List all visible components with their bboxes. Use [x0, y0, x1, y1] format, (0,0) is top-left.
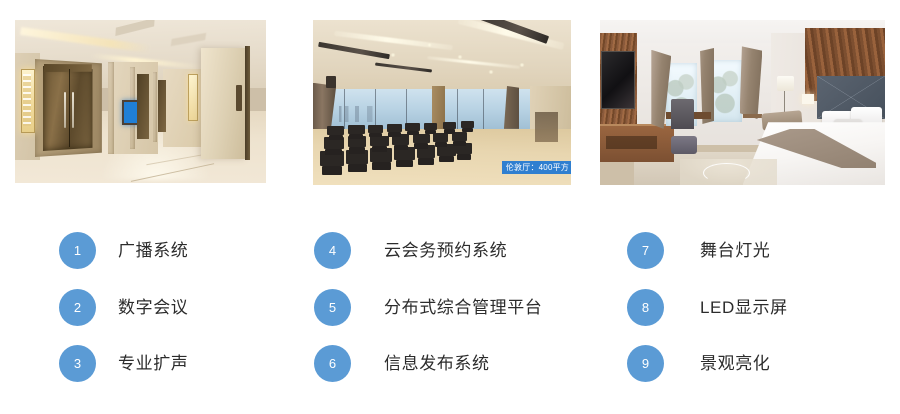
- room-ottoman: [671, 136, 697, 154]
- lobby-column-fixture: [236, 85, 242, 111]
- guest-room-scene: [600, 20, 885, 185]
- chair: [433, 133, 448, 142]
- feature-label-3: 专业扩声: [118, 355, 188, 372]
- feature-item-8[interactable]: 8 LED显示屏: [627, 289, 788, 326]
- photo-elevator-lobby: [15, 20, 266, 183]
- lobby-pilaster-3: [153, 72, 157, 142]
- hall-downlight-3: [457, 55, 463, 59]
- feature-label-5: 分布式综合管理平台: [384, 299, 542, 316]
- photo-conference-hall: 伦敦厅：400平方: [313, 20, 571, 185]
- photo-strip: 伦敦厅：400平方: [0, 0, 900, 200]
- feature-item-1[interactable]: 1 广播系统: [59, 232, 188, 269]
- feature-badge-1: 1: [59, 232, 96, 269]
- elevator-lobby-scene: [15, 20, 266, 183]
- chair: [387, 124, 402, 132]
- room-credenza-recess: [606, 136, 657, 149]
- feature-item-4[interactable]: 4 云会务预约系统: [314, 232, 507, 269]
- chair: [368, 125, 383, 133]
- hall-downlight-4: [488, 70, 494, 74]
- conference-hall-scene: 伦敦厅：400平方: [313, 20, 571, 185]
- feature-badge-7: 7: [627, 232, 664, 269]
- feature-item-9[interactable]: 9 景观亮化: [627, 345, 770, 382]
- feature-badge-9: 9: [627, 345, 664, 382]
- feature-label-4: 云会务预约系统: [384, 242, 507, 259]
- chair: [327, 126, 344, 135]
- lobby-elevator-door-seam: [69, 69, 70, 147]
- lobby-elevator-far-1: [137, 74, 150, 139]
- feature-list: 1 广播系统 2 数字会议 3 专业扩声 4 云会务预约系统 5 分布式综合管理…: [0, 200, 900, 414]
- feature-label-9: 景观亮化: [700, 355, 770, 372]
- feature-item-5[interactable]: 5 分布式综合管理平台: [314, 289, 542, 326]
- chair: [413, 134, 430, 144]
- hall-ceiling-speaker: [326, 76, 336, 88]
- feature-label-1: 广播系统: [118, 242, 188, 259]
- feature-label-2: 数字会议: [118, 299, 188, 316]
- room-bedside-sconce: [802, 94, 813, 104]
- hall-room-caption: 伦敦厅：400平方: [502, 161, 571, 174]
- feature-badge-2: 2: [59, 289, 96, 326]
- lobby-pilaster-1: [108, 62, 114, 153]
- room-desk-chair: [671, 99, 694, 129]
- lobby-door-handle-right: [72, 92, 74, 128]
- feature-badge-3: 3: [59, 345, 96, 382]
- feature-item-3[interactable]: 3 专业扩声: [59, 345, 188, 382]
- feature-item-2[interactable]: 2 数字会议: [59, 289, 188, 326]
- feature-item-7[interactable]: 7 舞台灯光: [627, 232, 770, 269]
- lobby-sconce-crystal-beads: [23, 74, 31, 126]
- chair: [370, 136, 389, 146]
- chair: [443, 122, 456, 130]
- feature-label-8: LED显示屏: [700, 299, 788, 316]
- lobby-column-edge: [245, 46, 250, 160]
- lobby-elevator-doors: [43, 66, 93, 151]
- feature-badge-5: 5: [314, 289, 351, 326]
- feature-item-6[interactable]: 6 信息发布系统: [314, 345, 490, 382]
- feature-badge-6: 6: [314, 345, 351, 382]
- photo-guest-room: [600, 20, 885, 185]
- chair: [424, 123, 437, 131]
- room-television: [601, 51, 634, 109]
- lobby-elevator-far-2: [158, 80, 166, 132]
- feature-badge-4: 4: [314, 232, 351, 269]
- chair: [348, 125, 365, 134]
- lobby-wall-sconce-right: [188, 74, 198, 122]
- hall-chair-rows: [318, 111, 504, 180]
- chair: [461, 121, 474, 128]
- chair: [405, 123, 420, 131]
- feature-badge-8: 8: [627, 289, 664, 326]
- room-side-table: [743, 114, 763, 118]
- lobby-elevator-transom: [44, 64, 92, 72]
- room-floor-lamp-shade: [777, 76, 794, 91]
- feature-label-7: 舞台灯光: [700, 242, 770, 259]
- lobby-door-handle-left: [64, 92, 66, 128]
- feature-label-6: 信息发布系统: [384, 355, 490, 372]
- hall-stacked-chairs: [535, 112, 558, 142]
